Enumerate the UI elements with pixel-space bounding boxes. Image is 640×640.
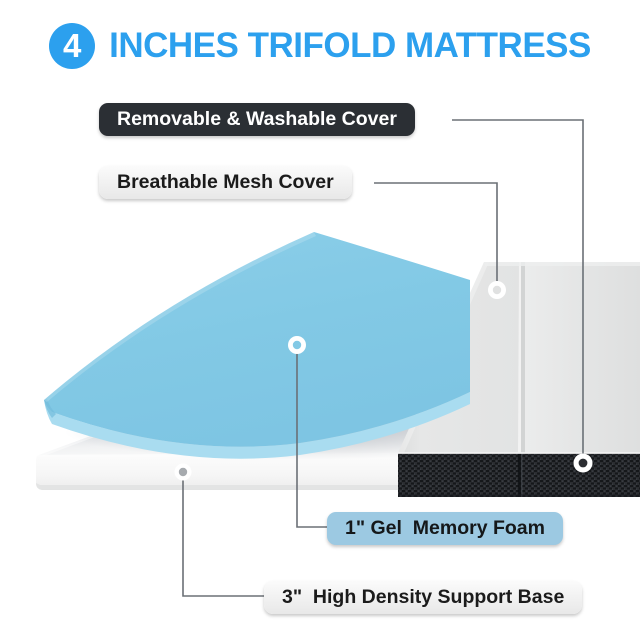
marker-removable-cover [488,281,506,299]
marker-gel-foam [288,336,306,354]
marker-breathable-mesh [574,454,593,473]
leader-line-support-base [183,480,268,596]
blue-foam-layer [44,232,470,459]
callout-gel-memory-foam[interactable]: 1" Gel Memory Foam [327,512,563,545]
callout-removable-washable-cover[interactable]: Removable & Washable Cover [99,103,415,136]
product-infographic: 4 INCHES TRIFOLD MATTRESS [0,0,640,640]
callout-breathable-mesh-cover[interactable]: Breathable Mesh Cover [99,166,352,199]
marker-support-base [175,464,192,481]
callout-high-density-support-base[interactable]: 3" High Density Support Base [264,581,582,614]
mesh-side-band [398,452,640,497]
